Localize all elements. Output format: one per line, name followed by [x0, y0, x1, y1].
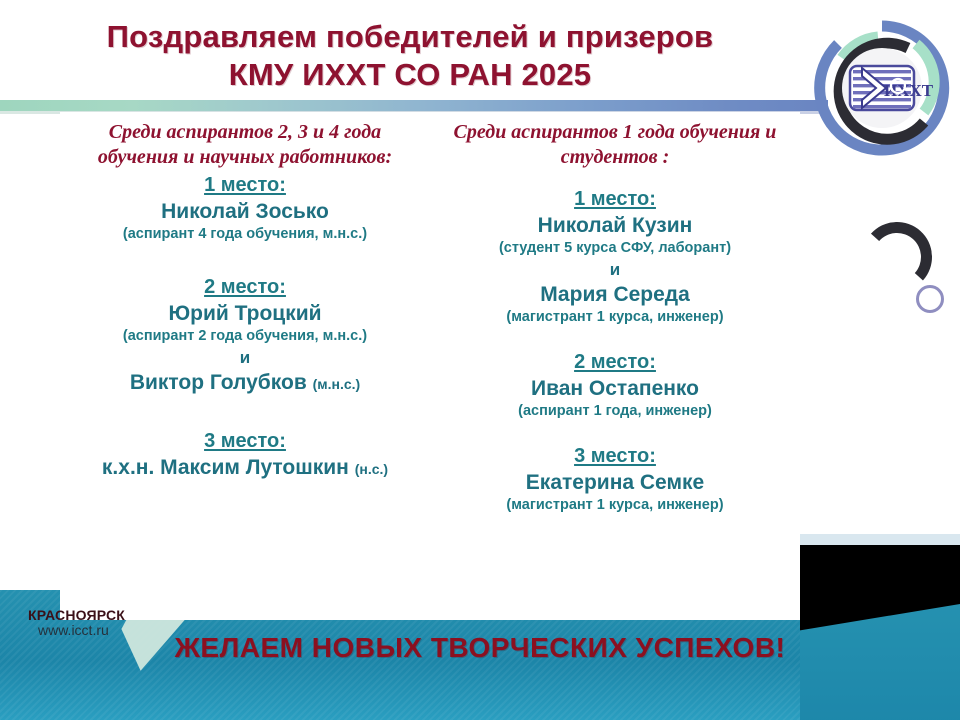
- winner-name: Мария Середа: [438, 281, 792, 308]
- winner-name: Иван Остапенко: [438, 375, 792, 402]
- winner-name-text: Юрий Троцкий: [168, 302, 321, 325]
- place-label: 2 место:: [68, 274, 422, 300]
- entry-place-3: 3 место: к.х.н. Максим Лутошкин (н.с.): [68, 428, 422, 483]
- entry-place-1: 1 место: Николай Кузин (студент 5 курса …: [438, 186, 792, 327]
- winner-name-text: Иван Остапенко: [531, 377, 699, 400]
- title-line-2: КМУ ИХХТ СО РАН 2025: [0, 56, 820, 94]
- winner-detail: (магистрант 1 курса, инженер): [438, 496, 792, 515]
- spacer: [68, 244, 422, 274]
- place-label: 1 место:: [68, 172, 422, 198]
- spacer: [68, 398, 422, 428]
- conjunction: и: [68, 346, 422, 369]
- website-label[interactable]: www.icct.ru: [28, 623, 125, 638]
- entry-place-1: 1 место: Николай Зосько (аспирант 4 года…: [68, 172, 422, 244]
- column-postgrad-234: Среди аспирантов 2, 3 и 4 года обучения …: [60, 112, 430, 620]
- winner-detail: (аспирант 2 года обучения, м.н.с.): [68, 327, 422, 346]
- winner-name-text: Виктор Голубков: [130, 371, 313, 394]
- place-label: 1 место:: [438, 186, 792, 212]
- winner-name: Николай Зосько: [68, 198, 422, 225]
- winner-detail: (аспирант 4 года обучения, м.н.с.): [68, 225, 422, 244]
- page-title: Поздравляем победителей и призеров КМУ И…: [0, 18, 820, 94]
- divider-bar: [0, 100, 828, 111]
- winner-name-text: к.х.н. Максим Лутошкин: [102, 456, 355, 479]
- logo-emblem-icon: ИХХТ: [812, 18, 952, 158]
- content-panel: Среди аспирантов 2, 3 и 4 года обучения …: [60, 112, 800, 620]
- winners-columns: Среди аспирантов 2, 3 и 4 года обучения …: [60, 112, 800, 620]
- winner-name: к.х.н. Максим Лутошкин (н.с.): [68, 454, 422, 483]
- winner-name: Екатерина Семке: [438, 469, 792, 496]
- spacer: [438, 172, 792, 186]
- winner-name-text: Мария Середа: [540, 283, 690, 306]
- winner-detail: (магистрант 1 курса, инженер): [438, 308, 792, 327]
- purple-ring-icon: [916, 285, 944, 313]
- footer-location: КРАСНОЯРСК www.icct.ru: [28, 608, 125, 637]
- winner-name: Николай Кузин: [438, 212, 792, 239]
- entry-place-2: 2 место: Иван Остапенко (аспирант 1 года…: [438, 349, 792, 421]
- column-heading: Среди аспирантов 2, 3 и 4 года обучения …: [68, 120, 422, 170]
- place-label: 2 место:: [438, 349, 792, 375]
- city-label: КРАСНОЯРСК: [28, 608, 125, 623]
- entry-place-3: 3 место: Екатерина Семке (магистрант 1 к…: [438, 443, 792, 515]
- institute-logo: ИХХТ: [812, 18, 952, 158]
- winner-name: Юрий Троцкий: [68, 300, 422, 327]
- place-label: 3 место:: [438, 443, 792, 469]
- column-heading: Среди аспирантов 1 года обучения и студе…: [438, 120, 792, 170]
- column-postgrad-1-students: Среди аспирантов 1 года обучения и студе…: [430, 112, 800, 620]
- winner-name-suffix: (м.н.с.): [313, 376, 361, 392]
- dark-arc-icon: [860, 220, 934, 294]
- title-line-1: Поздравляем победителей и призеров: [0, 18, 820, 56]
- slide-root: Поздравляем победителей и призеров КМУ И…: [0, 0, 960, 720]
- conjunction: и: [438, 258, 792, 281]
- winner-detail: (студент 5 курса СФУ, лаборант): [438, 239, 792, 258]
- spacer: [438, 421, 792, 443]
- entry-place-2: 2 место: Юрий Троцкий (аспирант 2 года о…: [68, 274, 422, 398]
- winner-name-text: Николай Кузин: [538, 214, 693, 237]
- winner-name: Виктор Голубков (м.н.с.): [68, 369, 422, 398]
- spacer: [438, 327, 792, 349]
- winner-name-text: Екатерина Семке: [526, 471, 704, 494]
- winner-detail: (аспирант 1 года, инженер): [438, 402, 792, 421]
- place-label: 3 место:: [68, 428, 422, 454]
- winner-name-suffix: (н.с.): [355, 461, 388, 477]
- wish-text: ЖЕЛАЕМ НОВЫХ ТВОРЧЕСКИХ УСПЕХОВ!: [0, 632, 960, 664]
- winner-name-text: Николай Зосько: [161, 200, 329, 223]
